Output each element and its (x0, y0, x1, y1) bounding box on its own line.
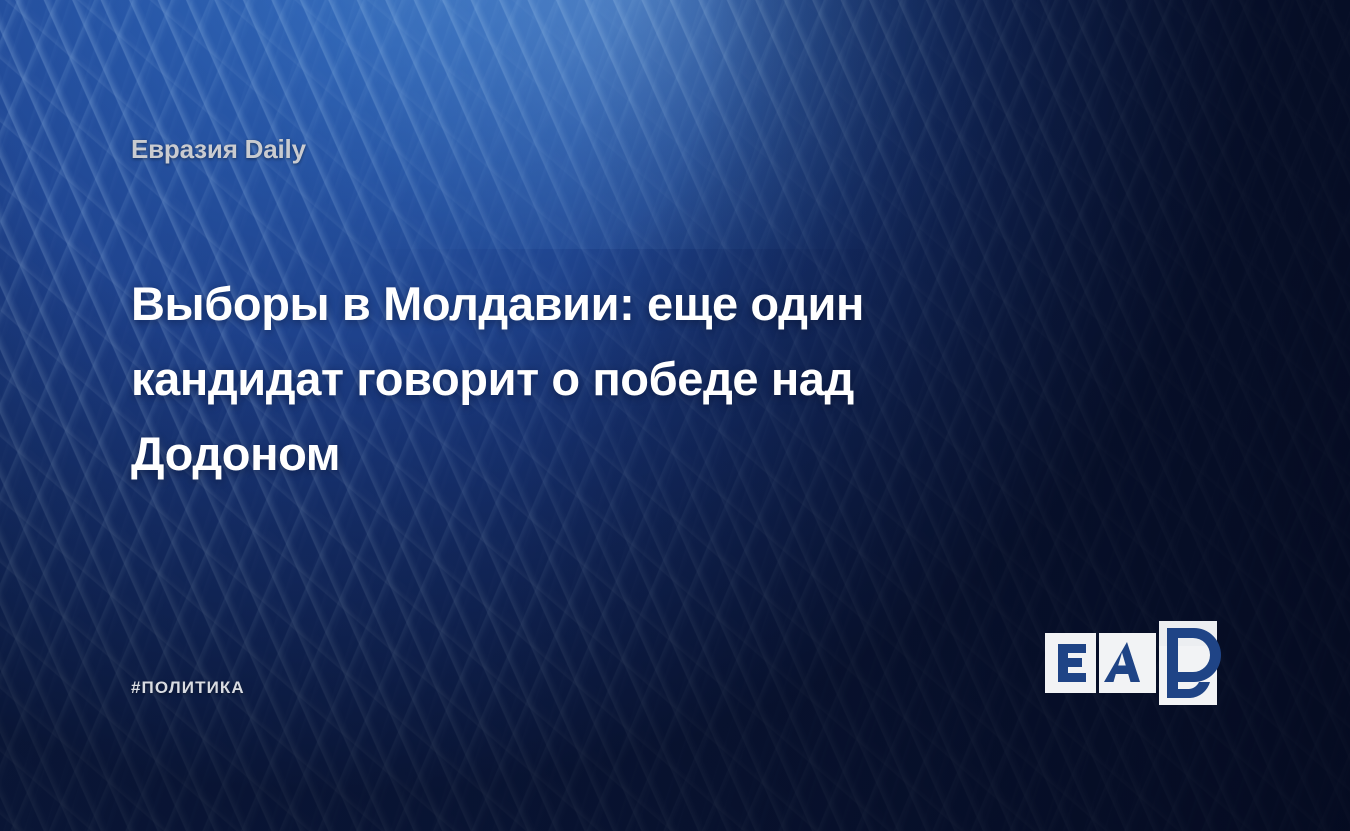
eadaily-logo-mark (1044, 620, 1230, 706)
logo-letter-e (1058, 644, 1086, 682)
brand-wordmark: Евразия Daily (131, 136, 306, 162)
page-title: Выборы в Молдавии: еще один кандидат гов… (131, 266, 1011, 491)
card-content: Евразия Daily Выборы в Молдавии: еще оди… (0, 0, 1350, 831)
eadaily-logo[interactable] (1044, 620, 1230, 706)
news-card: Евразия Daily Выборы в Молдавии: еще оди… (0, 0, 1350, 831)
category-tag[interactable]: #ПОЛИТИКА (131, 679, 245, 696)
